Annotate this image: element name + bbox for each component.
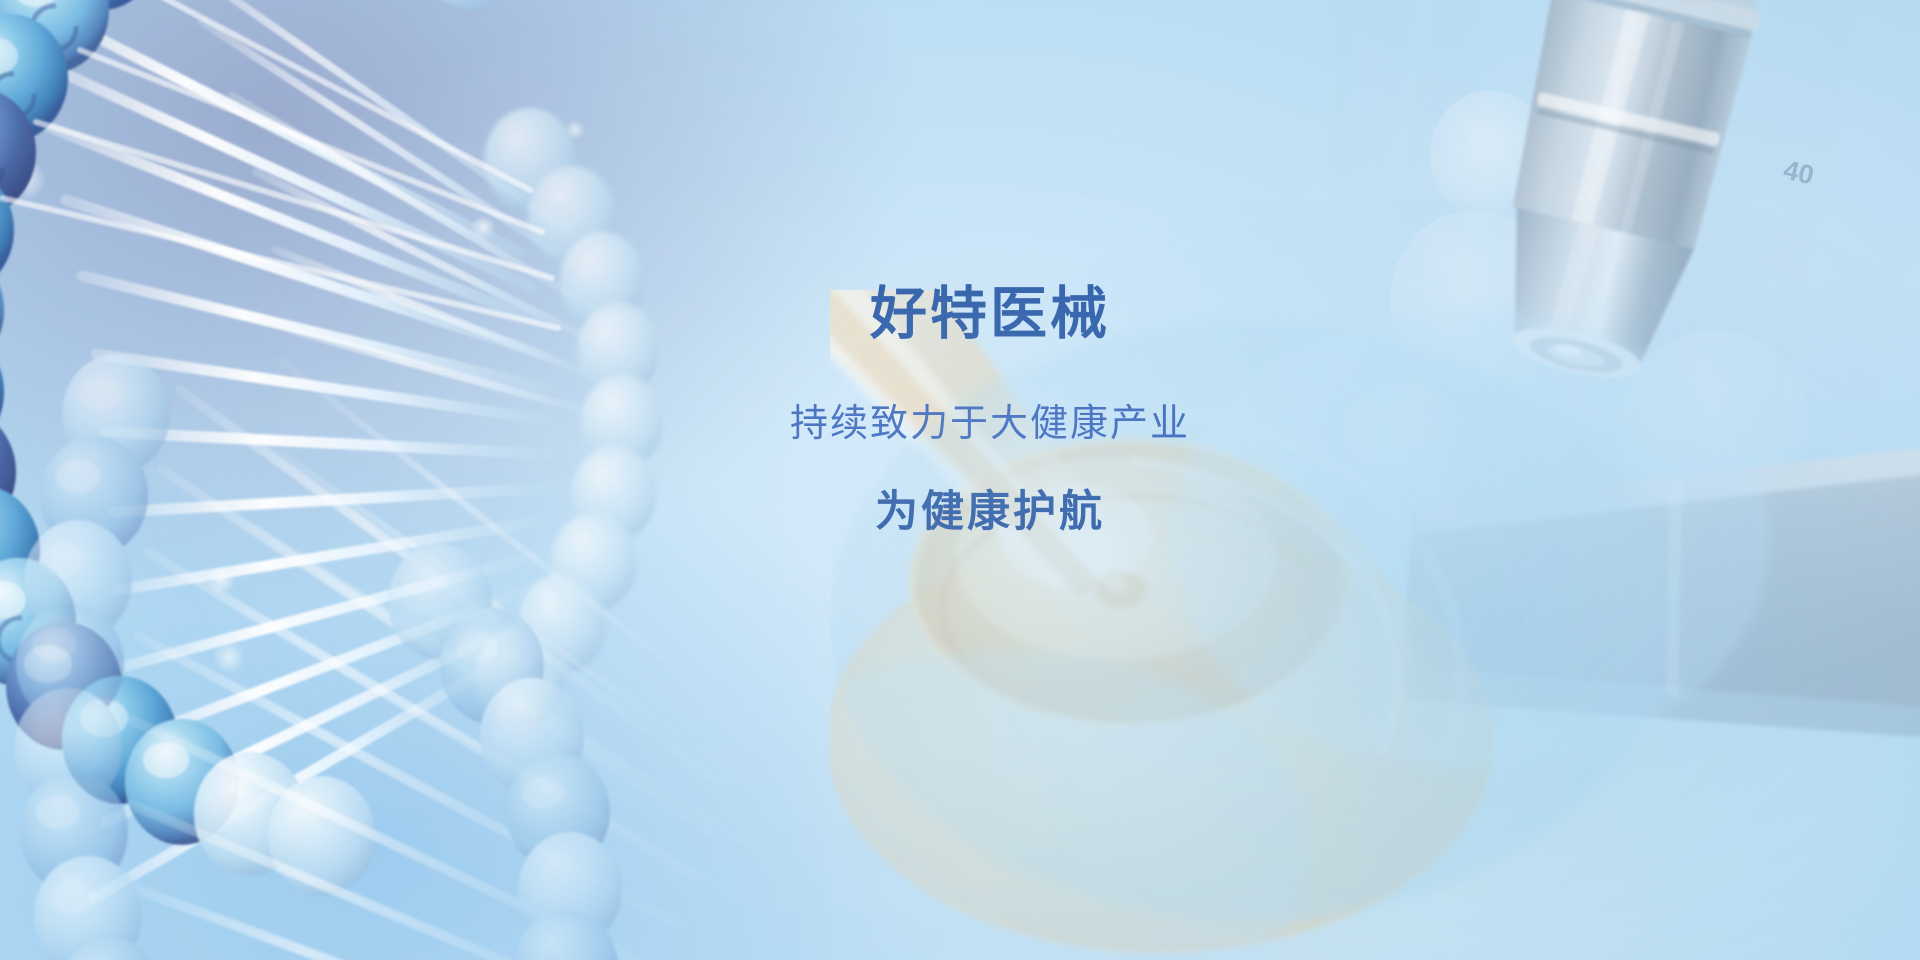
background-color-wash (0, 0, 1920, 960)
hero-banner: 40 (0, 0, 1920, 960)
